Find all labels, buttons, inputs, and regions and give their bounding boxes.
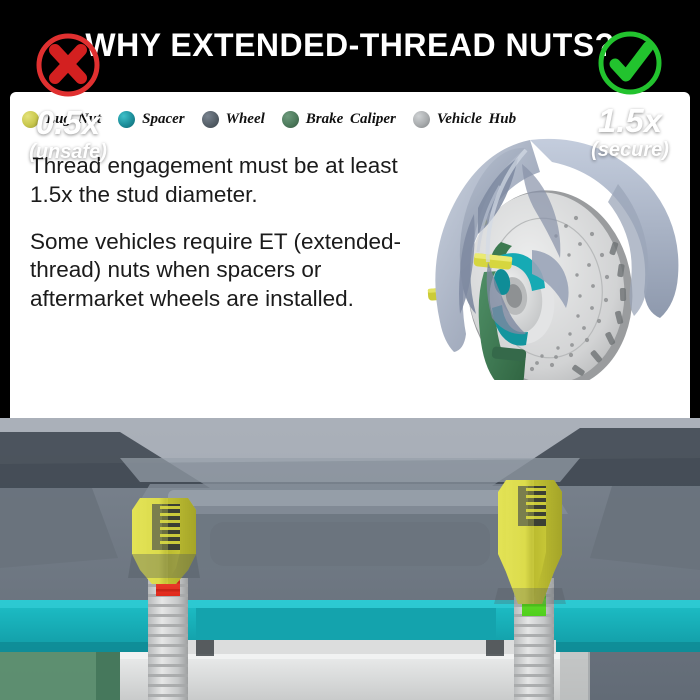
circle-swatch-icon (282, 111, 299, 128)
legend-label: Wheel (226, 111, 265, 128)
secure-callout: 1.5x (secure) (570, 26, 690, 161)
paragraph-et-nuts: Some vehicles require ET (extended-threa… (30, 228, 402, 314)
body-copy: Thread engagement must be at least 1.5x … (30, 152, 402, 332)
cross-circle-icon (31, 28, 105, 102)
page-title: WHY EXTENDED-THREAD NUTS? (85, 27, 614, 64)
legend-item-spacer: Spacer (118, 111, 185, 128)
legend-item-wheel: Wheel (202, 111, 265, 128)
check-circle-icon (593, 26, 667, 100)
qualifier-label-unsafe: (unsafe) (8, 141, 128, 163)
unsafe-callout: 0.5x (unsafe) (8, 28, 128, 163)
legend-label: Spacer (142, 111, 185, 128)
wheel-stud-left (148, 578, 188, 700)
ratio-label-unsafe: 0.5x (8, 106, 128, 141)
legend-item-brake-caliper: Brake Caliper (282, 111, 396, 128)
ratio-label-secure: 1.5x (570, 104, 690, 139)
thread-engagement-comparison (0, 418, 700, 700)
circle-swatch-icon (202, 111, 219, 128)
wheel-brake-assembly-render (380, 122, 690, 412)
infographic-poster: WHY EXTENDED-THREAD NUTS? Lug Nut Spacer… (0, 0, 700, 700)
qualifier-label-secure: (secure) (570, 139, 690, 161)
